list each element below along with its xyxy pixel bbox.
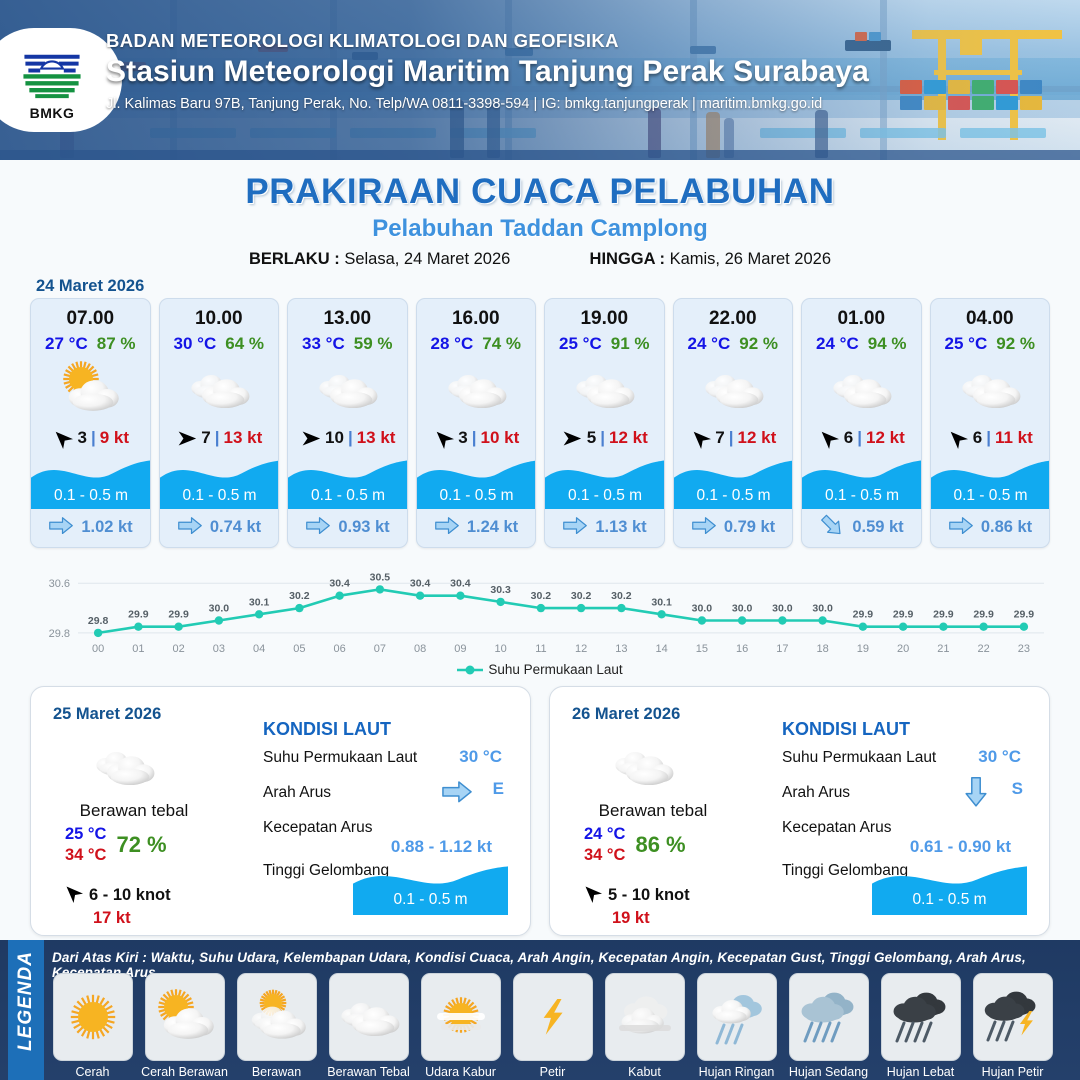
card-wind-speed: 5 <box>587 428 596 448</box>
legend-sidebar-label: LEGENDA <box>15 941 37 1061</box>
wind-direction-arrow-icon <box>689 427 711 449</box>
legend-item: Petir <box>510 973 595 1079</box>
current-direction-arrow-icon <box>692 517 716 539</box>
card-gust-speed: 13 kt <box>223 428 262 448</box>
card-wind-speed: 6 <box>844 428 853 448</box>
legend-item-label: Berawan Tebal <box>327 1065 409 1079</box>
svg-text:18: 18 <box>816 643 828 655</box>
card-gust-speed: 9 kt <box>100 428 129 448</box>
svg-text:23: 23 <box>1018 643 1030 655</box>
legend-item-row: CerahCerah BerawanBerawanBerawan TebalUd… <box>50 973 1076 1079</box>
wind-direction-arrow-icon <box>561 427 583 449</box>
svg-text:09: 09 <box>454 643 466 655</box>
svg-text:30.2: 30.2 <box>531 590 552 602</box>
card-wave-height: 0.1 - 0.5 m <box>545 487 665 505</box>
card-gust-speed: 11 kt <box>995 428 1033 448</box>
svg-text:30.3: 30.3 <box>490 584 511 596</box>
panel-wave-height-value: 0.1 - 0.5 m <box>872 891 1027 909</box>
legend-item: Udara Kabur <box>418 973 503 1079</box>
panel-wind-direction-arrow-icon <box>582 883 602 908</box>
svg-text:16: 16 <box>736 643 748 655</box>
legend-item: Berawan <box>234 973 319 1079</box>
card-wave-height: 0.1 - 0.5 m <box>288 487 408 505</box>
card-weather-icon-berawan-tebal <box>417 358 536 420</box>
sea-condition-title: KONDISI LAUT <box>263 719 391 740</box>
card-humidity: 74 % <box>482 334 521 354</box>
card-weather-icon-berawan-tebal <box>931 358 1050 420</box>
card-wind-speed: 7 <box>201 428 210 448</box>
valid-from-value: Selasa, 24 Maret 2026 <box>344 250 510 268</box>
legend-footer: LEGENDA Dari Atas Kiri : Waktu, Suhu Uda… <box>0 940 1080 1080</box>
panel-temp-max: 34 °C <box>65 846 106 865</box>
svg-text:13: 13 <box>615 643 627 655</box>
legend-icon-kabut <box>605 973 685 1061</box>
chart-legend: Suhu Permukaan Laut <box>0 662 1080 677</box>
card-temperature: 27 °C <box>45 334 88 354</box>
panel-weather-icon-berawan-tebal <box>578 735 708 797</box>
svg-text:30.6: 30.6 <box>49 578 70 590</box>
current-direction-arrow-icon <box>306 517 330 539</box>
legend-item: Hujan Lebat <box>878 973 963 1079</box>
card-wind-speed: 3 <box>77 428 86 448</box>
card-humidity: 59 % <box>354 334 393 354</box>
card-wave-height: 0.1 - 0.5 m <box>802 487 922 505</box>
sst-label: Suhu Permukaan Laut <box>263 749 417 767</box>
legend-item-label: Cerah <box>75 1065 109 1079</box>
card-humidity: 64 % <box>225 334 264 354</box>
sst-label: Suhu Permukaan Laut <box>782 749 936 767</box>
valid-from-label: BERLAKU : <box>249 250 340 268</box>
card-wind-speed: 6 <box>973 428 982 448</box>
current-direction-arrow-icon <box>435 517 459 539</box>
legend-item: Hujan Sedang <box>786 973 871 1079</box>
card-weather-icon-cerah-berawan <box>31 358 150 420</box>
page-subtitle: Pelabuhan Taddan Camplong <box>0 215 1080 243</box>
separator: | <box>986 428 991 448</box>
svg-text:30.0: 30.0 <box>812 603 833 615</box>
card-wave-height: 0.1 - 0.5 m <box>160 487 280 505</box>
svg-text:30.1: 30.1 <box>651 596 672 608</box>
wind-direction-arrow-icon <box>818 427 840 449</box>
card-humidity: 92 % <box>739 334 778 354</box>
legend-item: Kabut <box>602 973 687 1079</box>
legend-item-label: Hujan Sedang <box>789 1065 868 1079</box>
bmkg-logo: BMKG <box>0 28 122 132</box>
legend-item: Hujan Ringan <box>694 973 779 1079</box>
svg-text:11: 11 <box>535 643 546 655</box>
wind-direction-arrow-icon <box>51 427 73 449</box>
card-time: 16.00 <box>417 308 536 330</box>
forecast-card: 19.0025 °C91 %5|12 kt0.1 - 0.5 m1.13 kt <box>544 298 665 548</box>
forecast-card: 22.0024 °C92 %7|12 kt0.1 - 0.5 m0.79 kt <box>673 298 794 548</box>
card-gust-speed: 13 kt <box>357 428 396 448</box>
sst-value: 30 °C <box>978 747 1021 767</box>
bmkg-logo-text: BMKG <box>30 105 75 121</box>
legend-icon-hujan-ringan <box>697 973 777 1061</box>
wind-direction-arrow-icon <box>299 427 321 449</box>
page-title: PRAKIRAAN CUACA PELABUHAN <box>0 172 1080 212</box>
card-gust-speed: 12 kt <box>609 428 648 448</box>
header-bottom-bar <box>0 150 1080 160</box>
svg-text:04: 04 <box>253 643 265 655</box>
panel-current-direction-arrow-icon <box>961 781 991 808</box>
legend-item-label: Udara Kabur <box>425 1065 496 1079</box>
current-speed-label: Kecepatan Arus <box>263 819 372 837</box>
daily-forecast-panel: 26 Maret 2026Berawan tebal24 °C34 °C86 %… <box>549 686 1050 936</box>
svg-text:19: 19 <box>857 643 869 655</box>
legend-icon-hujan-petir <box>973 973 1053 1061</box>
legend-item-label: Petir <box>540 1065 566 1079</box>
legend-item: Hujan Petir <box>970 973 1055 1079</box>
forecast-card: 04.0025 °C92 %6|11 kt0.1 - 0.5 m0.86 kt <box>930 298 1051 548</box>
card-time: 10.00 <box>160 308 279 330</box>
svg-text:08: 08 <box>414 643 426 655</box>
valid-until-value: Kamis, 26 Maret 2026 <box>670 250 831 268</box>
panel-date: 25 Maret 2026 <box>53 705 161 724</box>
panel-weather-icon-berawan-tebal <box>59 735 189 797</box>
svg-text:30.0: 30.0 <box>732 603 753 615</box>
svg-text:30.4: 30.4 <box>410 578 431 590</box>
legend-marker-icon <box>457 664 483 676</box>
legend-icon-hujan-sedang <box>789 973 869 1061</box>
card-current-speed: 1.02 kt <box>81 518 132 537</box>
card-gust-speed: 12 kt <box>866 428 905 448</box>
svg-text:30.4: 30.4 <box>450 578 471 590</box>
svg-text:30.2: 30.2 <box>289 590 310 602</box>
panel-wind-direction-arrow-icon <box>63 883 83 908</box>
valid-until-label: HINGGA : <box>590 250 665 268</box>
daily-forecast-panels: 25 Maret 2026Berawan tebal25 °C34 °C72 %… <box>30 686 1050 936</box>
card-weather-icon-berawan-tebal <box>674 358 793 420</box>
legend-icon-udara-kabur <box>421 973 501 1061</box>
svg-text:06: 06 <box>333 643 345 655</box>
card-gust-speed: 10 kt <box>480 428 519 448</box>
panel-temp-min: 24 °C <box>584 825 625 844</box>
page-title-block: PRAKIRAAN CUACA PELABUHAN Pelabuhan Tadd… <box>0 172 1080 269</box>
card-temperature: 30 °C <box>174 334 217 354</box>
svg-text:29.9: 29.9 <box>168 609 189 621</box>
current-speed-value: 0.88 - 1.12 kt <box>391 837 492 857</box>
svg-text:30.2: 30.2 <box>611 590 632 602</box>
card-temperature: 25 °C <box>559 334 602 354</box>
forecast-card: 07.0027 °C87 %3|9 kt0.1 - 0.5 m1.02 kt <box>30 298 151 548</box>
current-direction-arrow-icon <box>49 517 73 539</box>
card-time: 04.00 <box>931 308 1050 330</box>
card-temperature: 33 °C <box>302 334 345 354</box>
svg-text:29.9: 29.9 <box>853 609 874 621</box>
daily-forecast-panel: 25 Maret 2026Berawan tebal25 °C34 °C72 %… <box>30 686 531 936</box>
svg-text:17: 17 <box>776 643 788 655</box>
legend-sidebar: LEGENDA <box>8 940 44 1080</box>
card-temperature: 25 °C <box>945 334 988 354</box>
legend-icon-cerah-berawan <box>145 973 225 1061</box>
header-station-name: Stasiun Meteorologi Maritim Tanjung Pera… <box>106 55 1036 89</box>
card-current-speed: 0.79 kt <box>724 518 775 537</box>
svg-text:02: 02 <box>172 643 184 655</box>
card-time: 19.00 <box>545 308 664 330</box>
separator: | <box>857 428 862 448</box>
card-wave-height: 0.1 - 0.5 m <box>31 487 151 505</box>
panel-humidity: 72 % <box>116 832 166 858</box>
svg-text:10: 10 <box>494 643 506 655</box>
svg-text:20: 20 <box>897 643 909 655</box>
svg-text:29.8: 29.8 <box>49 628 70 640</box>
legend-item-label: Hujan Ringan <box>699 1065 775 1079</box>
legend-icon-berawan <box>237 973 317 1061</box>
header-contact-line: Jl. Kalimas Baru 97B, Tanjung Perak, No.… <box>106 96 1036 112</box>
current-speed-value: 0.61 - 0.90 kt <box>910 837 1011 857</box>
current-direction-label: Arah Arus <box>263 784 331 802</box>
page-header: BMKG BADAN METEOROLOGI KLIMATOLOGI DAN G… <box>0 0 1080 160</box>
current-direction-arrow-icon <box>949 517 973 539</box>
panel-condition: Berawan tebal <box>568 801 738 821</box>
card-time: 01.00 <box>802 308 921 330</box>
separator: | <box>348 428 353 448</box>
separator: | <box>215 428 220 448</box>
current-speed-label: Kecepatan Arus <box>782 819 891 837</box>
legend-icon-cerah <box>53 973 133 1061</box>
legend-item-label: Hujan Petir <box>982 1065 1044 1079</box>
svg-text:15: 15 <box>696 643 708 655</box>
bmkg-emblem-icon <box>19 39 85 104</box>
card-temperature: 24 °C <box>688 334 731 354</box>
sst-line-chart: 29.830.629.80029.90129.90230.00330.10430… <box>26 560 1054 660</box>
legend-icon-berawan-tebal <box>329 973 409 1061</box>
svg-text:01: 01 <box>132 643 144 655</box>
svg-text:14: 14 <box>655 643 667 655</box>
svg-text:30.5: 30.5 <box>370 571 391 583</box>
svg-text:12: 12 <box>575 643 587 655</box>
panel-gust-speed: 17 kt <box>93 909 131 928</box>
panel-date: 26 Maret 2026 <box>572 705 680 724</box>
card-time: 13.00 <box>288 308 407 330</box>
card-wave-height: 0.1 - 0.5 m <box>931 487 1051 505</box>
forecast-card: 16.0028 °C74 %3|10 kt0.1 - 0.5 m1.24 kt <box>416 298 537 548</box>
forecast-card: 13.0033 °C59 %10|13 kt0.1 - 0.5 m0.93 kt <box>287 298 408 548</box>
legend-item-label: Kabut <box>628 1065 661 1079</box>
card-temperature: 28 °C <box>431 334 474 354</box>
wind-direction-arrow-icon <box>432 427 454 449</box>
card-current-speed: 0.59 kt <box>852 518 903 537</box>
svg-text:30.0: 30.0 <box>772 603 793 615</box>
panel-wind-speed: 5 - 10 knot <box>608 886 690 905</box>
forecast-card: 10.0030 °C64 %7|13 kt0.1 - 0.5 m0.74 kt <box>159 298 280 548</box>
header-org-line: BADAN METEOROLOGI KLIMATOLOGI DAN GEOFIS… <box>106 30 1036 52</box>
validity-row: BERLAKU : Selasa, 24 Maret 2026 HINGGA :… <box>0 250 1080 269</box>
current-direction-value: E <box>493 779 504 799</box>
card-weather-icon-berawan-tebal <box>160 358 279 420</box>
legend-item: Cerah Berawan <box>142 973 227 1079</box>
current-direction-arrow-icon <box>178 517 202 539</box>
legend-item: Cerah <box>50 973 135 1079</box>
sea-condition-title: KONDISI LAUT <box>782 719 910 740</box>
svg-text:30.4: 30.4 <box>329 578 350 590</box>
forecast-card: 01.0024 °C94 %6|12 kt0.1 - 0.5 m0.59 kt <box>801 298 922 548</box>
svg-text:07: 07 <box>374 643 386 655</box>
card-humidity: 91 % <box>611 334 650 354</box>
sst-value: 30 °C <box>459 747 502 767</box>
legend-item-label: Berawan <box>252 1065 301 1079</box>
panel-condition: Berawan tebal <box>49 801 219 821</box>
svg-text:29.9: 29.9 <box>893 609 914 621</box>
card-weather-icon-berawan-tebal <box>802 358 921 420</box>
legend-item: Berawan Tebal <box>326 973 411 1079</box>
svg-text:29.9: 29.9 <box>128 609 149 621</box>
card-humidity: 87 % <box>97 334 136 354</box>
card-current-speed: 0.93 kt <box>338 518 389 537</box>
svg-text:30.1: 30.1 <box>249 596 270 608</box>
svg-text:30.2: 30.2 <box>571 590 592 602</box>
card-wind-speed: 7 <box>715 428 724 448</box>
card-wind-speed: 3 <box>458 428 467 448</box>
separator: | <box>472 428 477 448</box>
card-humidity: 94 % <box>868 334 907 354</box>
svg-text:03: 03 <box>213 643 225 655</box>
hourly-forecast-row: 07.0027 °C87 %3|9 kt0.1 - 0.5 m1.02 kt10… <box>30 298 1050 548</box>
card-wind-speed: 10 <box>325 428 344 448</box>
current-direction-arrow-icon <box>820 517 844 539</box>
card-time: 07.00 <box>31 308 150 330</box>
svg-text:29.9: 29.9 <box>933 609 954 621</box>
panel-humidity: 86 % <box>635 832 685 858</box>
svg-text:05: 05 <box>293 643 305 655</box>
chart-legend-label: Suhu Permukaan Laut <box>488 662 622 677</box>
panel-wave-height-value: 0.1 - 0.5 m <box>353 891 508 909</box>
card-temperature: 24 °C <box>816 334 859 354</box>
panel-current-direction-arrow-icon <box>442 781 472 808</box>
legend-item-label: Cerah Berawan <box>141 1065 228 1079</box>
current-direction-label: Arah Arus <box>782 784 850 802</box>
legend-item-label: Hujan Lebat <box>887 1065 954 1079</box>
card-gust-speed: 12 kt <box>737 428 776 448</box>
svg-text:21: 21 <box>937 643 949 655</box>
separator: | <box>600 428 605 448</box>
card-current-speed: 1.24 kt <box>467 518 518 537</box>
wind-direction-arrow-icon <box>175 427 197 449</box>
card-wave-height: 0.1 - 0.5 m <box>417 487 537 505</box>
panel-wind-speed: 6 - 10 knot <box>89 886 171 905</box>
card-current-speed: 1.13 kt <box>595 518 646 537</box>
card-weather-icon-berawan-tebal <box>288 358 407 420</box>
svg-text:00: 00 <box>92 643 104 655</box>
forecast-day-label: 24 Maret 2026 <box>36 277 144 296</box>
panel-temp-max: 34 °C <box>584 846 625 865</box>
current-direction-value: S <box>1012 779 1023 799</box>
panel-temp-min: 25 °C <box>65 825 106 844</box>
current-direction-arrow-icon <box>563 517 587 539</box>
wind-direction-arrow-icon <box>947 427 969 449</box>
card-weather-icon-berawan-tebal <box>545 358 664 420</box>
svg-text:30.0: 30.0 <box>692 603 713 615</box>
svg-text:30.0: 30.0 <box>209 603 230 615</box>
card-time: 22.00 <box>674 308 793 330</box>
card-current-speed: 0.74 kt <box>210 518 261 537</box>
svg-text:22: 22 <box>977 643 989 655</box>
card-wave-height: 0.1 - 0.5 m <box>674 487 794 505</box>
separator: | <box>91 428 96 448</box>
panel-gust-speed: 19 kt <box>612 909 650 928</box>
svg-text:29.8: 29.8 <box>88 615 109 627</box>
card-current-speed: 0.86 kt <box>981 518 1032 537</box>
legend-icon-petir <box>513 973 593 1061</box>
svg-text:29.9: 29.9 <box>1014 609 1035 621</box>
svg-text:29.9: 29.9 <box>973 609 994 621</box>
separator: | <box>729 428 734 448</box>
legend-icon-hujan-lebat <box>881 973 961 1061</box>
card-humidity: 92 % <box>996 334 1035 354</box>
